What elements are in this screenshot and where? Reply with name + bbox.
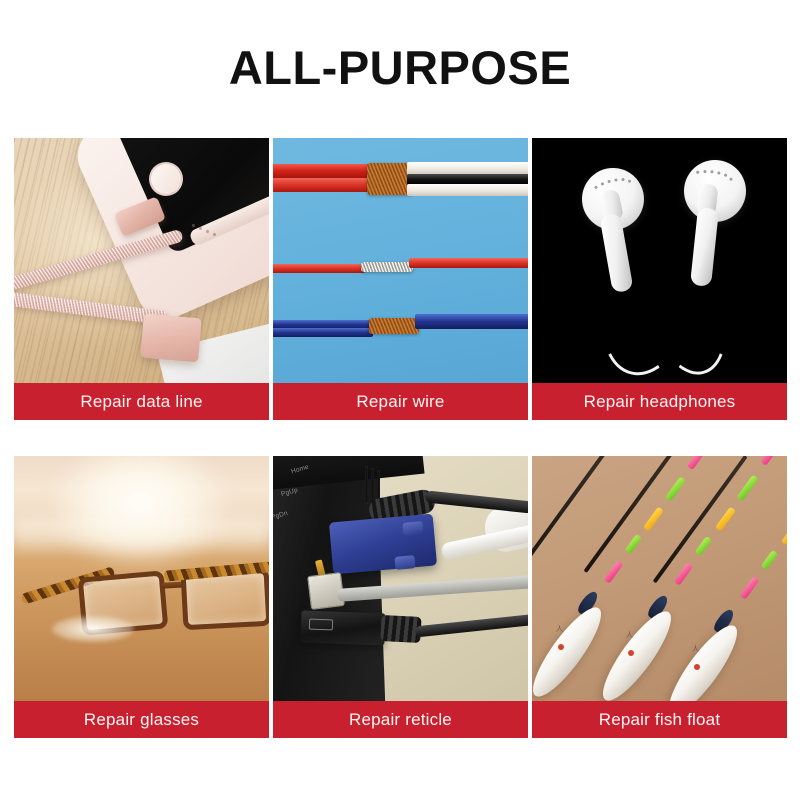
caption-repair-headphones: Repair headphones — [532, 383, 787, 420]
photo-repair-reticle: Home PgUp PgDn — [273, 456, 528, 701]
tile-repair-reticle[interactable]: Home PgUp PgDn — [273, 456, 528, 738]
wire-red-mid-left — [273, 264, 365, 273]
float-2-marking-dot — [628, 650, 634, 656]
photo-repair-wire — [273, 138, 528, 383]
speaker-hole — [192, 224, 195, 227]
wire-red-top-a — [273, 164, 373, 179]
product-infographic: ALL-PURPOSE Repair data line — [0, 0, 800, 800]
caption-repair-fish-float: Repair fish float — [532, 701, 787, 738]
float-2-marking: 人 — [626, 630, 633, 640]
float-3-band-pink-2 — [740, 576, 760, 600]
photo-repair-headphones — [532, 138, 787, 383]
float-3-marking-dot — [694, 664, 700, 670]
table-reflection — [52, 616, 134, 642]
float-1-marking-dot — [558, 644, 564, 650]
speaker-hole — [199, 227, 202, 230]
caption-repair-reticle: Repair reticle — [273, 701, 528, 738]
wire-red-mid-right — [409, 258, 528, 268]
tile-repair-wire[interactable]: Repair wire — [273, 138, 528, 420]
vga-thumbscrew-top — [402, 521, 423, 536]
splice-joint-copper-bottom — [369, 318, 419, 334]
feature-grid: Repair data line — [14, 138, 787, 738]
usb-logo-icon — [309, 619, 333, 631]
photo-repair-data-line — [14, 138, 269, 383]
wire-red-top-b — [273, 178, 373, 192]
usb-connector — [140, 314, 202, 363]
wire-blue-left-b — [273, 328, 373, 337]
wire-white-bottom — [407, 184, 528, 196]
float-1-marking: 人 — [556, 624, 563, 634]
tile-repair-glasses[interactable]: Repair glasses — [14, 456, 269, 738]
laptop-vent — [365, 466, 368, 504]
speaker-hole — [206, 230, 209, 233]
page-title: ALL-PURPOSE — [0, 40, 800, 95]
float-3-marking: 人 — [692, 644, 699, 654]
tile-repair-data-line[interactable]: Repair data line — [14, 138, 269, 420]
speaker-hole — [213, 233, 216, 236]
tile-repair-fish-float[interactable]: 人 人 — [532, 456, 787, 738]
caption-repair-data-line: Repair data line — [14, 383, 269, 420]
photo-repair-fish-float: 人 人 — [532, 456, 787, 701]
splice-joint-silver-mid — [361, 262, 413, 272]
wire-blue-right — [415, 314, 528, 329]
float-3-body — [659, 617, 747, 701]
float-3-band-yellow — [781, 520, 787, 545]
horizon-light-band — [14, 511, 269, 553]
fishing-float-3: 人 — [648, 456, 787, 701]
photo-repair-glasses — [14, 456, 269, 701]
vga-thumbscrew-bottom — [394, 555, 415, 570]
tile-repair-headphones[interactable]: Repair headphones — [532, 138, 787, 420]
float-3-antenna — [653, 456, 748, 583]
caption-repair-wire: Repair wire — [273, 383, 528, 420]
float-3-band-green-2 — [761, 550, 778, 570]
caption-repair-glasses: Repair glasses — [14, 701, 269, 738]
